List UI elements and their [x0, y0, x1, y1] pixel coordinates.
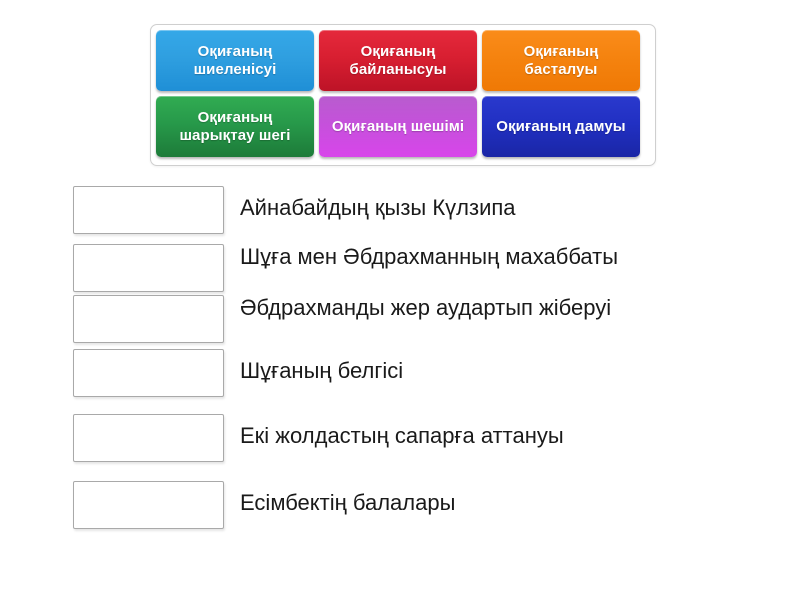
match-row: Екі жолдастың сапарға аттануы: [0, 414, 800, 462]
draggable-tile-6[interactable]: Оқиғаның дамуы: [482, 96, 640, 157]
draggable-tile-1-label: Оқиғаның шиеленісуі: [160, 43, 310, 79]
draggable-tile-4-label: Оқиғаның шарықтау шегі: [160, 109, 310, 145]
draggable-tile-3[interactable]: Оқиғаның басталуы: [482, 30, 640, 91]
draggable-tile-5-label: Оқиғаның шешімі: [332, 118, 464, 136]
draggable-tile-1[interactable]: Оқиғаның шиеленісуі: [156, 30, 314, 91]
match-row: Шұғаның белгісі: [0, 349, 800, 397]
dropzone-4[interactable]: [73, 349, 224, 397]
dropzone-2[interactable]: [73, 244, 224, 292]
quiz-page: Оқиғаның шиеленісуі Оқиғаның байланысуы …: [0, 0, 800, 600]
match-row: Шұға мен Әбдрахманның махаббаты: [0, 244, 800, 292]
dropzone-3[interactable]: [73, 295, 224, 343]
dropzone-5[interactable]: [73, 414, 224, 462]
dropzone-1[interactable]: [73, 186, 224, 234]
draggable-tile-6-label: Оқиғаның дамуы: [496, 118, 625, 136]
answer-choices-bank: Оқиғаның шиеленісуі Оқиғаның байланысуы …: [150, 24, 656, 166]
row-label-1: Айнабайдың қызы Күлзипа: [224, 186, 800, 222]
row-label-6: Есімбектің балалары: [224, 481, 800, 517]
dropzone-6[interactable]: [73, 481, 224, 529]
row-label-2: Шұға мен Әбдрахманның махаббаты: [224, 244, 800, 271]
match-row: Айнабайдың қызы Күлзипа: [0, 186, 800, 234]
match-rows-list: Айнабайдың қызы Күлзипа Шұға мен Әбдрахм…: [0, 186, 800, 529]
draggable-tile-4[interactable]: Оқиғаның шарықтау шегі: [156, 96, 314, 157]
draggable-tile-5[interactable]: Оқиғаның шешімі: [319, 96, 477, 157]
match-row: Есімбектің балалары: [0, 481, 800, 529]
row-label-5: Екі жолдастың сапарға аттануы: [224, 414, 800, 450]
match-row: Әбдрахманды жер аудартып жіберуі: [0, 295, 800, 343]
draggable-tile-2-label: Оқиғаның байланысуы: [323, 43, 473, 79]
draggable-tile-3-label: Оқиғаның басталуы: [486, 43, 636, 79]
draggable-tile-2[interactable]: Оқиғаның байланысуы: [319, 30, 477, 91]
row-label-4: Шұғаның белгісі: [224, 349, 800, 385]
row-label-3: Әбдрахманды жер аудартып жіберуі: [224, 295, 800, 322]
